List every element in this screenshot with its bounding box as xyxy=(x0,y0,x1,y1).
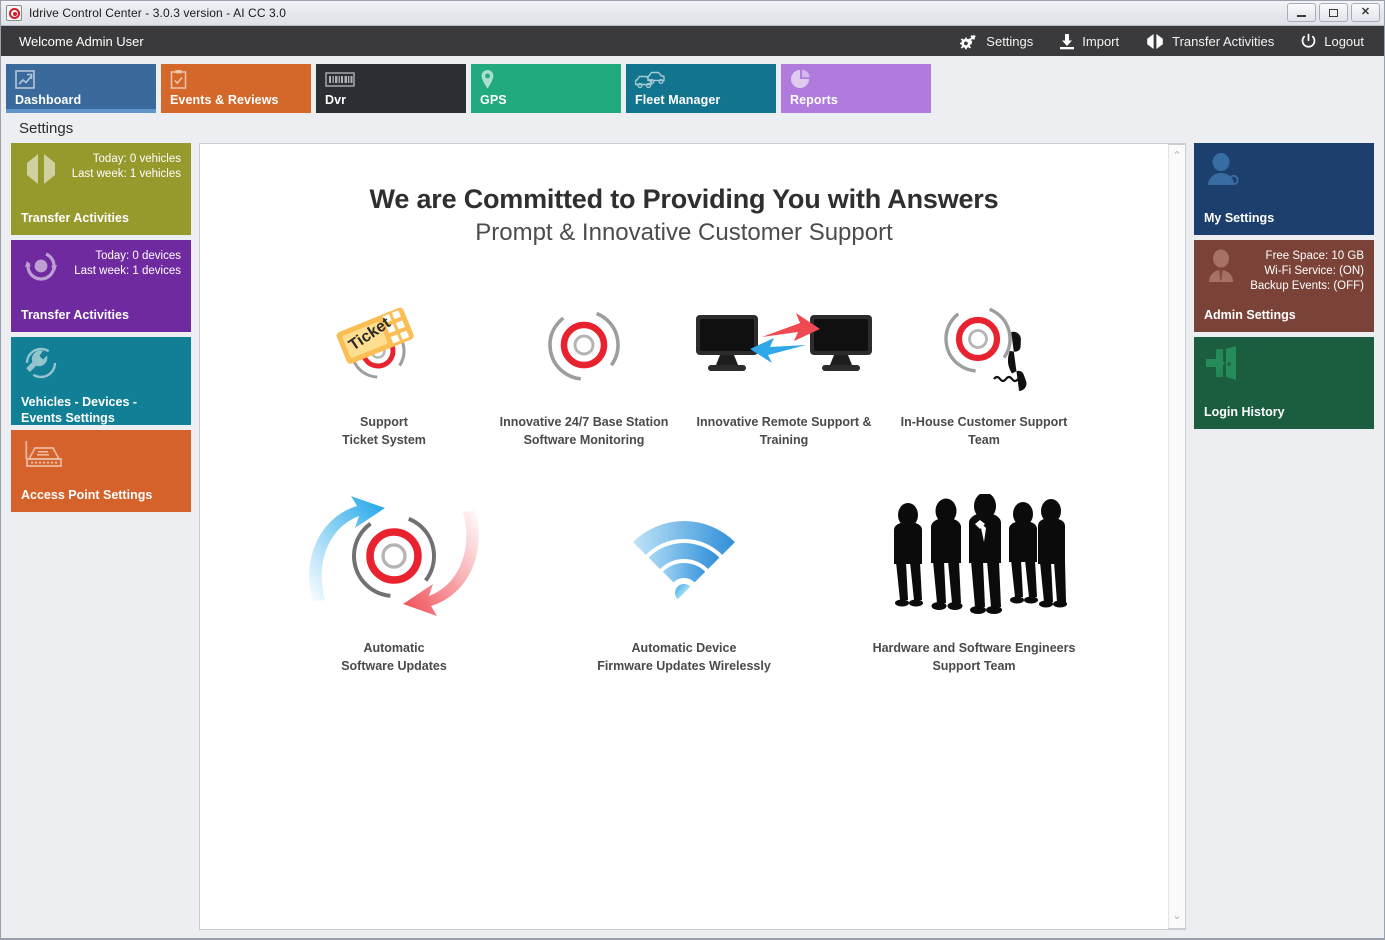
left-sidebar: Today: 0 vehicles Last week: 1 vehicles … xyxy=(11,143,191,930)
tile-stat-line: Last week: 1 devices xyxy=(67,264,181,279)
header-actions: Settings Import xyxy=(960,33,1376,50)
content-scroll-area: We are Committed to Providing You with A… xyxy=(200,144,1168,929)
header-settings-button[interactable]: Settings xyxy=(960,33,1033,50)
features-row-2: AutomaticSoftware Updates xyxy=(230,491,1138,675)
tab-fleet-manager[interactable]: Fleet Manager xyxy=(626,64,776,113)
tile-transfer-activities-devices[interactable]: Today: 0 devices Last week: 1 devices Tr… xyxy=(11,240,191,332)
feature-label: In-House Customer SupportTeam xyxy=(901,413,1068,449)
tile-stat-line: Wi-Fi Service: (ON) xyxy=(1250,264,1364,279)
map-pin-icon xyxy=(480,69,621,90)
transfer-arrows-icon xyxy=(1145,33,1165,50)
content-panel: We are Committed to Providing You with A… xyxy=(199,143,1186,930)
feature-base-station-monitoring: Innovative 24/7 Base StationSoftware Mon… xyxy=(484,295,684,449)
feature-automatic-software-updates: AutomaticSoftware Updates xyxy=(254,491,534,675)
support-page: We are Committed to Providing You with A… xyxy=(200,144,1168,676)
tile-login-history[interactable]: Login History xyxy=(1194,337,1374,429)
login-door-icon xyxy=(1204,346,1250,385)
header-transfer-activities-label: Transfer Activities xyxy=(1172,34,1274,49)
header-import-label: Import xyxy=(1082,34,1119,49)
feature-support-ticket: Ticket SupportTicket System xyxy=(284,295,484,449)
feature-label: SupportTicket System xyxy=(342,413,426,449)
title-bar: Idrive Control Center - 3.0.3 version - … xyxy=(1,1,1384,26)
header-settings-label: Settings xyxy=(986,34,1033,49)
chart-arrow-icon xyxy=(15,69,156,90)
tile-vehicles-devices-events-settings[interactable]: Vehicles - Devices - Events Settings xyxy=(11,337,191,425)
tile-label: My Settings xyxy=(1204,201,1364,227)
engineers-team-icon xyxy=(879,491,1069,621)
content-headline: We are Committed to Providing You with A… xyxy=(230,184,1138,215)
tab-gps[interactable]: GPS xyxy=(471,64,621,113)
tab-gps-label: GPS xyxy=(480,93,507,107)
vehicles-icon xyxy=(635,69,776,90)
header-logout-label: Logout xyxy=(1324,34,1364,49)
minimize-button[interactable] xyxy=(1287,3,1316,22)
body-layout: Today: 0 vehicles Last week: 1 vehicles … xyxy=(1,143,1384,938)
customer-support-phone-icon xyxy=(934,295,1034,395)
scroll-up-icon[interactable]: ⌃ xyxy=(1172,151,1181,162)
tile-label: Admin Settings xyxy=(1204,298,1364,324)
base-station-monitoring-icon xyxy=(541,295,627,395)
tile-label: Transfer Activities xyxy=(21,201,181,227)
device-sync-icon xyxy=(21,249,67,288)
feature-label: Innovative Remote Support &Training xyxy=(696,413,871,449)
feature-remote-support-training: Innovative Remote Support &Training xyxy=(684,295,884,449)
feature-label: Hardware and Software EngineersSupport T… xyxy=(873,639,1076,675)
tile-label: Access Point Settings xyxy=(21,478,181,504)
page-title: Settings xyxy=(1,113,1384,143)
feature-label: AutomaticSoftware Updates xyxy=(341,639,447,675)
tile-label: Transfer Activities xyxy=(21,298,181,324)
tab-reports[interactable]: Reports xyxy=(781,64,931,113)
feature-engineers-support-team: Hardware and Software EngineersSupport T… xyxy=(834,491,1114,675)
application-window: Idrive Control Center - 3.0.3 version - … xyxy=(0,0,1385,940)
right-sidebar: My Settings Free Space: 10 GB Wi-Fi Serv… xyxy=(1194,143,1374,930)
window-title: Idrive Control Center - 3.0.3 version - … xyxy=(29,6,286,20)
feature-in-house-support-team: In-House Customer SupportTeam xyxy=(884,295,1084,449)
content-subheadline: Prompt & Innovative Customer Support xyxy=(230,219,1138,247)
close-icon: ✕ xyxy=(1361,7,1370,18)
window-controls: ✕ xyxy=(1287,3,1380,22)
dvr-icon xyxy=(325,69,466,90)
close-button[interactable]: ✕ xyxy=(1351,3,1380,22)
wrench-icon xyxy=(21,346,67,385)
header-transfer-activities-button[interactable]: Transfer Activities xyxy=(1145,33,1274,50)
feature-label: Automatic DeviceFirmware Updates Wireles… xyxy=(597,639,771,675)
tab-reports-label: Reports xyxy=(790,93,838,107)
router-icon xyxy=(21,439,67,476)
feature-label: Innovative 24/7 Base StationSoftware Mon… xyxy=(500,413,669,449)
transfer-arrows-icon xyxy=(21,152,67,191)
tile-admin-settings[interactable]: Free Space: 10 GB Wi-Fi Service: (ON) Ba… xyxy=(1194,240,1374,332)
tab-events-reviews-label: Events & Reviews xyxy=(170,93,279,107)
tile-stat-line: Last week: 1 vehicles xyxy=(67,167,181,182)
idrive-target-logo-icon xyxy=(6,5,22,21)
tile-stats: Today: 0 devices Last week: 1 devices xyxy=(67,249,181,279)
main-tabs: Dashboard Events & Reviews xyxy=(1,56,1384,113)
header-import-button[interactable]: Import xyxy=(1059,33,1119,50)
tile-label: Login History xyxy=(1204,395,1364,421)
tab-fleet-manager-label: Fleet Manager xyxy=(635,93,720,107)
tile-access-point-settings[interactable]: Access Point Settings xyxy=(11,430,191,512)
features-row-1: Ticket SupportTicket System xyxy=(230,295,1138,449)
content-scrollbar[interactable]: ⌃ ⌄ xyxy=(1168,144,1186,929)
tile-stats: Today: 0 vehicles Last week: 1 vehicles xyxy=(67,152,181,182)
feature-automatic-firmware-updates: Automatic DeviceFirmware Updates Wireles… xyxy=(534,491,834,675)
remote-support-monitors-icon xyxy=(694,295,874,395)
admin-user-icon xyxy=(1204,249,1250,288)
gear-icon xyxy=(960,33,979,50)
tile-stat-line: Free Space: 10 GB xyxy=(1250,249,1364,264)
header-bar: Welcome Admin User xyxy=(1,26,1384,56)
tile-transfer-activities-vehicles[interactable]: Today: 0 vehicles Last week: 1 vehicles … xyxy=(11,143,191,235)
header-logout-button[interactable]: Logout xyxy=(1300,33,1364,50)
tab-dvr[interactable]: Dvr xyxy=(316,64,466,113)
download-icon xyxy=(1059,33,1075,50)
wifi-icon xyxy=(607,491,762,621)
tab-dashboard-label: Dashboard xyxy=(15,93,81,107)
tab-dvr-label: Dvr xyxy=(325,93,346,107)
software-update-icon xyxy=(299,491,489,621)
tab-dashboard[interactable]: Dashboard xyxy=(6,64,156,113)
welcome-message: Welcome Admin User xyxy=(19,34,144,49)
tile-stat-line: Today: 0 vehicles xyxy=(67,152,181,167)
tile-stats: Free Space: 10 GB Wi-Fi Service: (ON) Ba… xyxy=(1250,249,1364,295)
tile-stat-line: Today: 0 devices xyxy=(67,249,181,264)
pie-chart-icon xyxy=(790,69,931,90)
clipboard-check-icon xyxy=(170,69,311,90)
power-icon xyxy=(1300,33,1317,50)
tile-stat-line: Backup Events: (OFF) xyxy=(1250,279,1364,294)
maximize-button[interactable] xyxy=(1319,3,1348,22)
support-ticket-icon: Ticket xyxy=(332,295,437,395)
scroll-down-icon[interactable]: ⌄ xyxy=(1172,911,1181,922)
tile-label: Vehicles - Devices - Events Settings xyxy=(21,385,181,426)
tile-my-settings[interactable]: My Settings xyxy=(1194,143,1374,235)
user-settings-icon xyxy=(1204,152,1250,191)
tab-events-reviews[interactable]: Events & Reviews xyxy=(161,64,311,113)
